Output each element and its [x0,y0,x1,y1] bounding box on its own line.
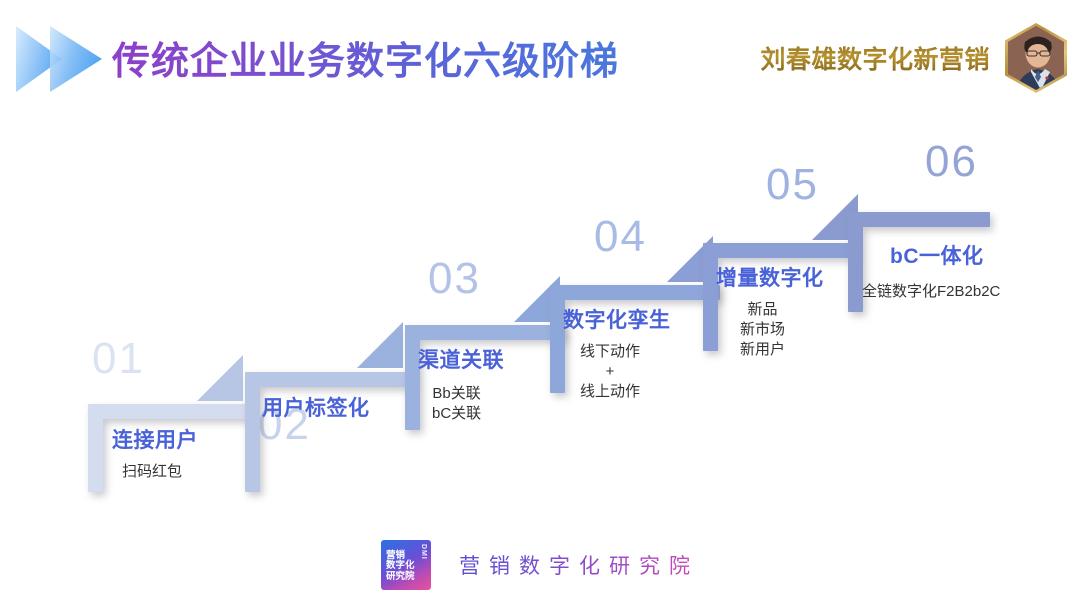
slide-header: 传统企业业务数字化六级阶梯 刘春雄数字化新营销 [0,0,1080,112]
step-subtitle-06: 全链数字化F2B2b2C [862,282,1000,302]
footer-logo-lines: 营销数字化研究院 [386,551,418,583]
footer-logo-mark: DMI [420,544,427,560]
page-title: 传统企业业务数字化六级阶梯 [112,30,619,85]
step-06: 06bC一体化全链数字化F2B2b2C [0,112,1080,520]
brand-title: 刘春雄数字化新营销 [760,40,990,76]
dmi-square-logo-icon: 营销数字化研究院 DMI [381,540,431,590]
staircase-diagram: 01连接用户扫码红包02用户标签化03渠道关联Bb关联bC关联04数字化孪生线下… [0,112,1080,520]
slide-footer: 营销数字化研究院 DMI 营销数字化研究院 [0,527,1080,602]
step-number-06: 06 [925,137,978,187]
double-arrow-icon [6,22,110,96]
brand-block: 刘春雄数字化新营销 [760,22,1072,94]
step-title-06: bC一体化 [890,240,984,270]
avatar [1000,22,1072,94]
footer-institute-name: 营销数字化研究院 [459,550,699,580]
